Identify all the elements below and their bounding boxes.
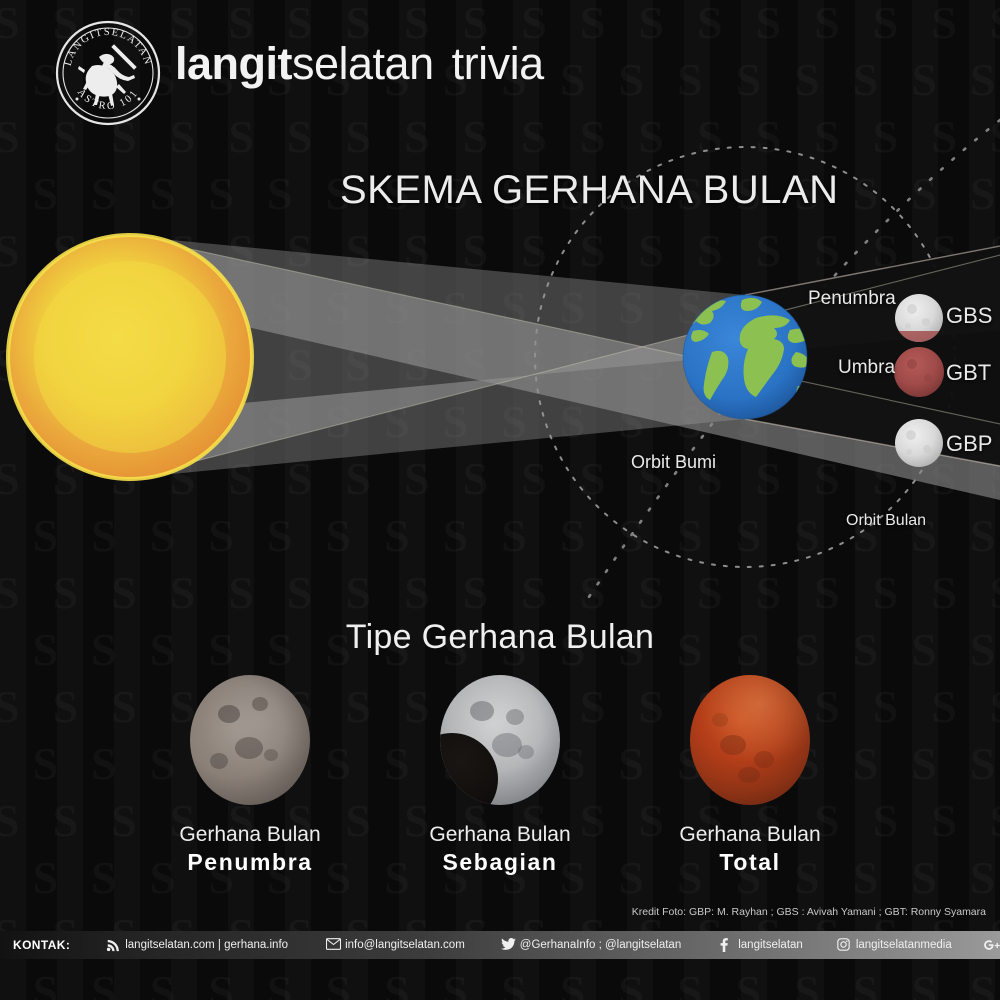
facebook-icon: [719, 938, 733, 952]
infographic-page: SSSSSSSSSSSSSSSSSSSSSSSSSSSSSSSSSSSSSSSS…: [0, 0, 1000, 1000]
contact-instagram[interactable]: langitselatanmedia: [837, 938, 952, 952]
orbit-bumi-label: Orbit Bumi: [631, 452, 716, 473]
instagram-icon: [837, 938, 851, 952]
moon-gbt-body: [894, 347, 944, 397]
contact-website[interactable]: langitselatan.com | gerhana.info: [106, 938, 288, 952]
type-caption-line2: Sebagian: [360, 849, 640, 876]
type-card-total: Gerhana Bulan Total: [610, 675, 890, 876]
moon-gbp-body: [895, 419, 943, 467]
contact-twitter[interactable]: @GerhanaInfo ; @langitselatan: [501, 938, 681, 952]
contact-googleplus[interactable]: LangitselatanMedia: [982, 938, 1000, 952]
contact-facebook[interactable]: langitselatan: [719, 938, 803, 952]
twitter-icon: [501, 938, 515, 952]
contact-footer: KONTAK: langitselatan.com | gerhana.info…: [0, 931, 1000, 959]
sun-body: [8, 235, 252, 479]
gbs-label: GBS: [946, 303, 992, 329]
diagram-title: SKEMA GERHANA BULAN: [340, 168, 839, 213]
contact-twitter-text: @GerhanaInfo ; @langitselatan: [520, 939, 681, 951]
watermark-row: SSSSSSSSSSSSSSSSSSSS: [0, 963, 1000, 1000]
contact-instagram-text: langitselatanmedia: [856, 939, 952, 951]
penumbra-label: Penumbra: [808, 288, 896, 310]
moon-total-photo: [690, 675, 810, 805]
type-caption-line1: Gerhana Bulan: [360, 823, 640, 847]
contact-email[interactable]: info@langitselatan.com: [326, 938, 465, 952]
gbp-label: GBP: [946, 431, 992, 457]
moon-partial-photo: [440, 675, 560, 805]
type-caption-line2: Penumbra: [110, 849, 390, 876]
kontak-label: KONTAK:: [13, 938, 70, 952]
contact-email-text: info@langitselatan.com: [345, 939, 465, 951]
contact-website-text: langitselatan.com | gerhana.info: [125, 939, 288, 951]
rss-icon: [106, 938, 120, 952]
envelope-icon: [326, 938, 340, 952]
googleplus-icon: [982, 938, 1000, 952]
type-caption-line2: Total: [610, 849, 890, 876]
photo-credit: Kredit Foto: GBP: M. Rayhan ; GBS : Aviv…: [632, 906, 986, 918]
type-card-sebagian: Gerhana Bulan Sebagian: [360, 675, 640, 876]
type-card-penumbra: Gerhana Bulan Penumbra: [110, 675, 390, 876]
type-caption-line1: Gerhana Bulan: [110, 823, 390, 847]
moon-penumbral-photo: [190, 675, 310, 805]
orbit-bulan-label: Orbit Bulan: [846, 512, 926, 530]
eclipse-types-section: Tipe Gerhana Bulan Gerhana Bulan Penumbr…: [0, 600, 1000, 900]
type-caption-line1: Gerhana Bulan: [610, 823, 890, 847]
eclipse-diagram: SKEMA GERHANA BULAN Penumbra Umbra GBS G…: [0, 0, 1000, 600]
umbra-label: Umbra: [838, 357, 895, 379]
contact-facebook-text: langitselatan: [738, 939, 803, 951]
types-section-title: Tipe Gerhana Bulan: [0, 618, 1000, 657]
gbt-label: GBT: [946, 360, 991, 386]
